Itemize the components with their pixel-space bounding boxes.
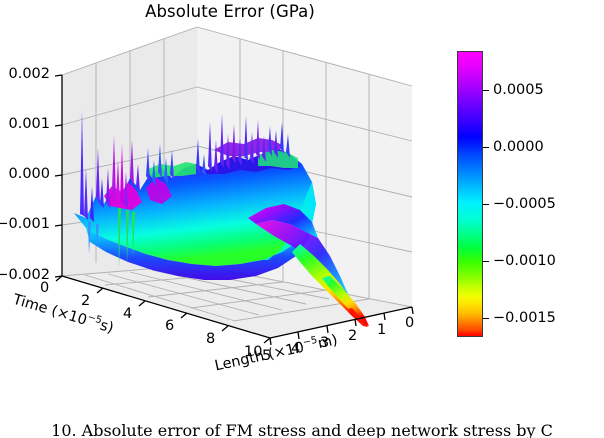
z-tick-label-0: 0.002 [0,66,50,82]
y-tick-label-1: 2 [81,293,90,309]
z-tick-label-2: 0.000 [0,166,50,182]
x-tick-label-3: 2 [348,328,357,344]
colorbar-label-2: −0.0005 [493,196,556,212]
y-tick-label-2: 4 [123,306,132,322]
z-axis-ticks [55,75,62,277]
colorbar-tick-1 [483,147,489,148]
colorbar-tick-4 [483,318,489,319]
figure-root: Absolute Error (GPa) [0,0,604,438]
colorbar-tick-0 [483,90,489,91]
colorbar-tick-2 [483,204,489,205]
colorbar-label-3: −0.0010 [493,253,556,269]
figure-caption: 10. Absolute error of FM stress and deep… [0,421,604,438]
surface-plot-axes: 0.002 0.001 0.000 −0.001 −0.002 0 2 4 6 … [0,18,450,388]
colorbar-label-1: 0.0000 [493,139,544,155]
y-tick-label-0: 0 [40,280,49,296]
x-tick-label-5: 0 [405,315,414,331]
x-tick-label-4: 1 [377,322,386,338]
y-tick-label-4: 8 [206,331,215,347]
colorbar-gradient [457,51,483,337]
z-tick-label-1: 0.001 [0,116,50,132]
colorbar-label-0: 0.0005 [493,82,544,98]
y-tick-label-3: 6 [165,318,174,334]
z-tick-label-3: −0.001 [0,216,50,232]
colorbar-tick-3 [483,261,489,262]
colorbar-label-4: −0.0015 [493,310,556,326]
